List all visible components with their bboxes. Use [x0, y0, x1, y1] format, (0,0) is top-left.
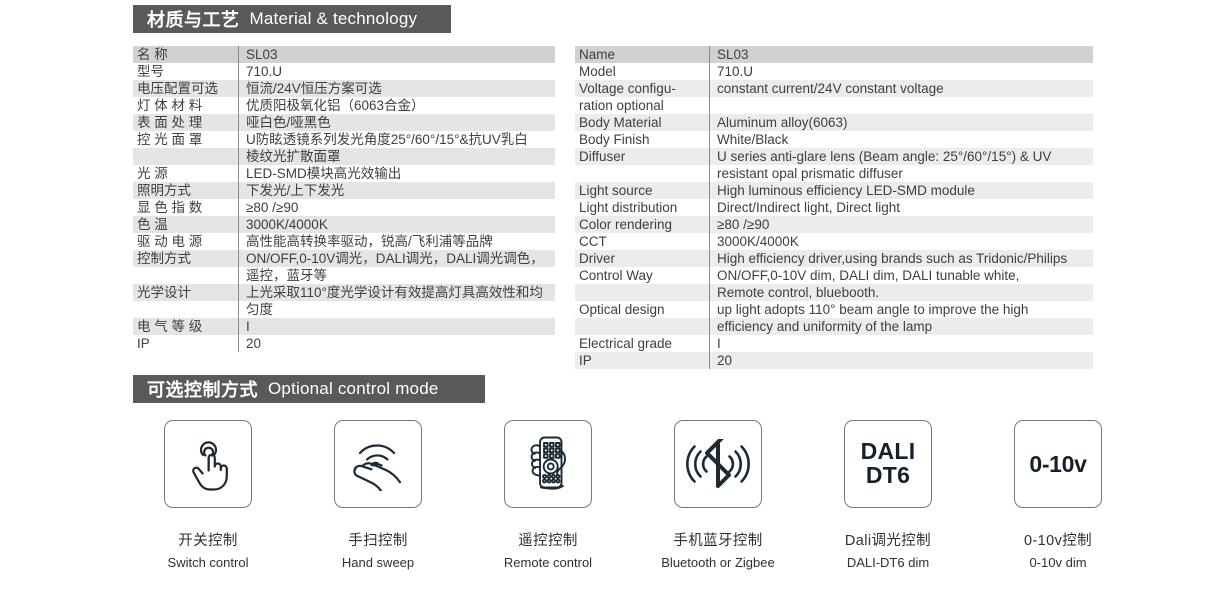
- spec-row-label: Optical design: [575, 301, 709, 335]
- control-mode-icon-box[interactable]: [164, 420, 252, 508]
- spec-value-line: High efficiency driver,using brands such…: [717, 250, 1093, 267]
- spec-row-label: 电压配置可选: [133, 80, 238, 97]
- spec-row: Control Way ON/OFF,0-10V dim, DALI dim, …: [575, 267, 1093, 301]
- dali-line-2: DT6: [861, 464, 916, 488]
- spec-label-line: 控 光 面 罩: [137, 131, 238, 148]
- spec-label-line: Voltage configu-: [579, 80, 709, 97]
- spec-row-label: 色 温: [133, 216, 238, 233]
- spec-label-line: 照明方式: [137, 182, 238, 199]
- spec-value-line: 哑白色/哑黑色: [246, 114, 555, 131]
- spec-row: 光 源LED-SMD模块高光效输出: [133, 165, 555, 182]
- spec-row-value: up light adopts 110° beam angle to impro…: [709, 301, 1093, 335]
- spec-label-line: 名 称: [137, 46, 238, 63]
- spec-label-line: [137, 148, 238, 165]
- spec-row-label: 表 面 处 理: [133, 114, 238, 131]
- spec-row-value: U series anti-glare lens (Beam angle: 25…: [709, 148, 1093, 182]
- spec-row: IP20: [133, 335, 555, 352]
- spec-row: 灯 体 材 料优质阳极氧化铝（6063合金）: [133, 97, 555, 114]
- spec-label-line: [579, 284, 709, 301]
- spec-row-value: High efficiency driver,using brands such…: [709, 250, 1093, 267]
- spec-row-value: 哑白色/哑黑色: [238, 114, 555, 131]
- spec-row: 控 光 面 罩 U防眩透镜系列发光角度25°/60°/15°&抗UV乳白棱纹光扩…: [133, 131, 555, 165]
- spec-row: 色 温3000K/4000K: [133, 216, 555, 233]
- spec-row-value: High luminous efficiency LED-SMD module: [709, 182, 1093, 199]
- spec-row-label: 型号: [133, 63, 238, 80]
- control-mode-label-en: Remote control: [504, 555, 592, 570]
- spec-label-line: Optical design: [579, 301, 709, 318]
- spec-row-value: 3000K/4000K: [238, 216, 555, 233]
- spec-value-line: 棱纹光扩散面罩: [246, 148, 555, 165]
- section-header-control-mode-en: Optional control mode: [268, 379, 439, 399]
- spec-row-value: White/Black: [709, 131, 1093, 148]
- spec-row: 电压配置可选恒流/24V恒压方案可选: [133, 80, 555, 97]
- spec-row: Diffuser U series anti-glare lens (Beam …: [575, 148, 1093, 182]
- spec-value-line: SL03: [246, 46, 555, 63]
- control-mode-icon-box[interactable]: DALIDT6: [844, 420, 932, 508]
- spec-row-value: ≥80 /≥90: [238, 199, 555, 216]
- spec-row-value: ≥80 /≥90: [709, 216, 1093, 233]
- spec-value-line: efficiency and uniformity of the lamp: [717, 318, 1093, 335]
- zero-to-ten-volt-text-icon: 0-10v: [1029, 451, 1086, 478]
- spec-row-value: 3000K/4000K: [709, 233, 1093, 250]
- spec-value-line: 下发光/上下发光: [246, 182, 555, 199]
- spec-value-line: LED-SMD模块高光效输出: [246, 165, 555, 182]
- control-mode-label-en: Hand sweep: [342, 555, 414, 570]
- section-header-material: 材质与工艺 Material & technology: [133, 5, 451, 33]
- spec-value-line: 3000K/4000K: [717, 233, 1093, 250]
- spec-label-line: 电压配置可选: [137, 80, 238, 97]
- dali-line-1: DALI: [861, 440, 916, 464]
- spec-label-line: 控制方式: [137, 250, 238, 267]
- spec-row-value: 710.U: [709, 63, 1093, 80]
- spec-value-line: 恒流/24V恒压方案可选: [246, 80, 555, 97]
- spec-value-line: ≥80 /≥90: [246, 199, 555, 216]
- spec-value-line: 710.U: [246, 63, 555, 80]
- section-header-control-mode: 可选控制方式 Optional control mode: [133, 375, 485, 403]
- spec-row-label: Light distribution: [575, 199, 709, 216]
- spec-label-line: Color rendering: [579, 216, 709, 233]
- spec-value-line: [717, 97, 1093, 114]
- spec-value-line: up light adopts 110° beam angle to impro…: [717, 301, 1093, 318]
- spec-row: Color rendering≥80 /≥90: [575, 216, 1093, 233]
- spec-row-value: constant current/24V constant voltage: [709, 80, 1093, 114]
- control-mode-label-cn: 0-10v控制: [1024, 529, 1092, 550]
- control-mode-label-en: DALI-DT6 dim: [847, 555, 929, 570]
- hand-press-icon: [180, 435, 236, 493]
- spec-value-line: 20: [246, 335, 555, 352]
- spec-row: 控制方式 ON/OFF,0-10V调光，DALI调光，DALI调光调色，遥控，蓝…: [133, 250, 555, 284]
- spec-value-line: Aluminum alloy(6063): [717, 114, 1093, 131]
- spec-label-line: Body Material: [579, 114, 709, 131]
- spec-row-label: Driver: [575, 250, 709, 267]
- spec-row-label: 控 光 面 罩: [133, 131, 238, 165]
- spec-value-line: Remote control, bluebooth.: [717, 284, 1093, 301]
- spec-row: Light distributionDirect/Indirect light,…: [575, 199, 1093, 216]
- spec-value-line: ON/OFF,0-10V dim, DALI dim, DALI tunable…: [717, 267, 1093, 284]
- spec-row-label: 名 称: [133, 46, 238, 63]
- spec-row-value: 下发光/上下发光: [238, 182, 555, 199]
- spec-row-value: I: [238, 318, 555, 335]
- spec-row-value: SL03: [709, 46, 1093, 63]
- spec-value-line: 3000K/4000K: [246, 216, 555, 233]
- spec-row-label: Control Way: [575, 267, 709, 301]
- spec-value-line: High luminous efficiency LED-SMD module: [717, 182, 1093, 199]
- control-mode-label-cn: 开关控制: [178, 529, 238, 550]
- spec-row-value: 高性能高转换率驱动，锐高/飞利浦等品牌: [238, 233, 555, 250]
- spec-label-line: 驱 动 电 源: [137, 233, 238, 250]
- spec-row-label: Name: [575, 46, 709, 63]
- spec-label-line: 电 气 等 级: [137, 318, 238, 335]
- spec-row: 型号710.U: [133, 63, 555, 80]
- spec-label-line: IP: [137, 335, 238, 352]
- spec-value-line: 优质阳极氧化铝（6063合金）: [246, 97, 555, 114]
- spec-row: IP20: [575, 352, 1093, 369]
- spec-value-line: Direct/Indirect light, Direct light: [717, 199, 1093, 216]
- spec-label-line: [137, 301, 238, 318]
- spec-label-line: 光学设计: [137, 284, 238, 301]
- spec-row: Body MaterialAluminum alloy(6063): [575, 114, 1093, 131]
- control-mode-label-en: 0-10v dim: [1029, 555, 1086, 570]
- control-mode-label-cn: Dali调光控制: [845, 529, 931, 550]
- spec-row-label: Light source: [575, 182, 709, 199]
- spec-label-line: Electrical grade: [579, 335, 709, 352]
- spec-label-line: Body Finish: [579, 131, 709, 148]
- control-mode-label-en: Switch control: [168, 555, 249, 570]
- spec-row: Optical design up light adopts 110° beam…: [575, 301, 1093, 335]
- spec-row: 驱 动 电 源高性能高转换率驱动，锐高/飞利浦等品牌: [133, 233, 555, 250]
- spec-row: 显 色 指 数≥80 /≥90: [133, 199, 555, 216]
- spec-label-line: Light source: [579, 182, 709, 199]
- spec-value-line: resistant opal prismatic diffuser: [717, 165, 1093, 182]
- spec-row: Voltage configu-ration optionalconstant …: [575, 80, 1093, 114]
- spec-row: 照明方式下发光/上下发光: [133, 182, 555, 199]
- spec-label-line: 显 色 指 数: [137, 199, 238, 216]
- control-mode-label-cn: 手扫控制: [348, 529, 408, 550]
- spec-row: CCT3000K/4000K: [575, 233, 1093, 250]
- spec-row-label: 驱 动 电 源: [133, 233, 238, 250]
- spec-row-label: Body Material: [575, 114, 709, 131]
- spec-label-line: IP: [579, 352, 709, 369]
- spec-label-line: Diffuser: [579, 148, 709, 165]
- spec-row: DriverHigh efficiency driver,using brand…: [575, 250, 1093, 267]
- spec-label-line: Driver: [579, 250, 709, 267]
- spec-label-line: Control Way: [579, 267, 709, 284]
- spec-value-line: 上光采取110°度光学设计有效提高灯具高效性和均: [246, 284, 555, 301]
- spec-value-line: U防眩透镜系列发光角度25°/60°/15°&抗UV乳白: [246, 131, 555, 148]
- spec-label-line: 光 源: [137, 165, 238, 182]
- spec-row-label: Color rendering: [575, 216, 709, 233]
- spec-row-value: Aluminum alloy(6063): [709, 114, 1093, 131]
- spec-value-line: 高性能高转换率驱动，锐高/飞利浦等品牌: [246, 233, 555, 250]
- control-mode-item[interactable]: 遥控控制Remote control: [473, 420, 623, 570]
- spec-label-line: [579, 318, 709, 335]
- control-mode-item[interactable]: DALIDT6Dali调光控制DALI-DT6 dim: [813, 420, 963, 570]
- spec-row-value: SL03: [238, 46, 555, 63]
- spec-row-label: 照明方式: [133, 182, 238, 199]
- spec-row-value: I: [709, 335, 1093, 352]
- spec-row-label: 控制方式: [133, 250, 238, 284]
- spec-label-line: 型号: [137, 63, 238, 80]
- spec-row-label: Electrical grade: [575, 335, 709, 352]
- spec-row: 电 气 等 级I: [133, 318, 555, 335]
- section-header-control-mode-cn: 可选控制方式: [147, 376, 258, 402]
- spec-label-line: 灯 体 材 料: [137, 97, 238, 114]
- spec-row-label: Model: [575, 63, 709, 80]
- control-mode-icon-box[interactable]: [674, 420, 762, 508]
- section-header-material-en: Material & technology: [250, 9, 418, 29]
- spec-label-line: [579, 165, 709, 182]
- spec-label-line: ration optional: [579, 97, 709, 114]
- dali-dt6-text-icon: DALIDT6: [861, 440, 916, 488]
- spec-row-label: 光学设计: [133, 284, 238, 318]
- bluetooth-wave-icon: [682, 439, 754, 489]
- control-mode-label-cn: 手机蓝牙控制: [673, 529, 762, 550]
- spec-value-line: ≥80 /≥90: [717, 216, 1093, 233]
- spec-row: NameSL03: [575, 46, 1093, 63]
- spec-row-value: 710.U: [238, 63, 555, 80]
- spec-label-line: CCT: [579, 233, 709, 250]
- remote-control-icon: [517, 433, 579, 495]
- section-header-material-cn: 材质与工艺: [147, 6, 240, 32]
- control-mode-item[interactable]: 手机蓝牙控制Bluetooth or Zigbee: [643, 420, 793, 570]
- spec-row-label: 显 色 指 数: [133, 199, 238, 216]
- spec-value-line: 710.U: [717, 63, 1093, 80]
- spec-value-line: SL03: [717, 46, 1093, 63]
- spec-value-line: 20: [717, 352, 1093, 369]
- spec-value-line: U series anti-glare lens (Beam angle: 25…: [717, 148, 1093, 165]
- control-mode-label-en: Bluetooth or Zigbee: [661, 555, 774, 570]
- spec-row-label: IP: [133, 335, 238, 352]
- spec-row-label: 灯 体 材 料: [133, 97, 238, 114]
- spec-row-value: 恒流/24V恒压方案可选: [238, 80, 555, 97]
- spec-row-label: Body Finish: [575, 131, 709, 148]
- spec-label-line: [137, 267, 238, 284]
- spec-row-value: LED-SMD模块高光效输出: [238, 165, 555, 182]
- control-mode-icon-box[interactable]: 0-10v: [1014, 420, 1102, 508]
- spec-row-value: ON/OFF,0-10V dim, DALI dim, DALI tunable…: [709, 267, 1093, 301]
- control-mode-item[interactable]: 0-10v0-10v控制0-10v dim: [983, 420, 1133, 570]
- spec-row: Model710.U: [575, 63, 1093, 80]
- control-mode-list: 开关控制Switch control 手扫控制Hand sweep: [133, 420, 1133, 570]
- spec-row-label: Voltage configu-ration optional: [575, 80, 709, 114]
- control-mode-item[interactable]: 手扫控制Hand sweep: [303, 420, 453, 570]
- spec-table-english: NameSL03Model710.UVoltage configu-ration…: [575, 46, 1093, 369]
- spec-row: Electrical gradeI: [575, 335, 1093, 352]
- spec-row-label: CCT: [575, 233, 709, 250]
- control-mode-item[interactable]: 开关控制Switch control: [133, 420, 283, 570]
- spec-value-line: 遥控，蓝牙等: [246, 267, 555, 284]
- control-mode-icon-box[interactable]: [334, 420, 422, 508]
- spec-row-value: 优质阳极氧化铝（6063合金）: [238, 97, 555, 114]
- spec-row-label: Diffuser: [575, 148, 709, 182]
- spec-row-label: 光 源: [133, 165, 238, 182]
- spec-label-line: Light distribution: [579, 199, 709, 216]
- spec-row: 光学设计 上光采取110°度光学设计有效提高灯具高效性和均匀度: [133, 284, 555, 318]
- spec-label-line: 色 温: [137, 216, 238, 233]
- control-mode-icon-box[interactable]: [504, 420, 592, 508]
- spec-label-line: 表 面 处 理: [137, 114, 238, 131]
- spec-value-line: I: [246, 318, 555, 335]
- spec-row-value: Direct/Indirect light, Direct light: [709, 199, 1093, 216]
- spec-value-line: 匀度: [246, 301, 555, 318]
- spec-row: Body FinishWhite/Black: [575, 131, 1093, 148]
- spec-label-line: Model: [579, 63, 709, 80]
- spec-value-line: ON/OFF,0-10V调光，DALI调光，DALI调光调色，: [246, 250, 555, 267]
- spec-row: 表 面 处 理哑白色/哑黑色: [133, 114, 555, 131]
- spec-table-chinese: 名 称SL03型号710.U电压配置可选恒流/24V恒压方案可选灯 体 材 料优…: [133, 46, 555, 352]
- spec-row-value: 20: [238, 335, 555, 352]
- spec-row: Light sourceHigh luminous efficiency LED…: [575, 182, 1093, 199]
- spec-label-line: Name: [579, 46, 709, 63]
- spec-row-value: ON/OFF,0-10V调光，DALI调光，DALI调光调色，遥控，蓝牙等: [238, 250, 555, 284]
- spec-row-label: IP: [575, 352, 709, 369]
- spec-value-line: I: [717, 335, 1093, 352]
- spec-row: 名 称SL03: [133, 46, 555, 63]
- spec-row-value: U防眩透镜系列发光角度25°/60°/15°&抗UV乳白棱纹光扩散面罩: [238, 131, 555, 165]
- spec-value-line: White/Black: [717, 131, 1093, 148]
- hand-sweep-icon: [347, 437, 409, 491]
- spec-row-label: 电 气 等 级: [133, 318, 238, 335]
- spec-row-value: 上光采取110°度光学设计有效提高灯具高效性和均匀度: [238, 284, 555, 318]
- control-mode-label-cn: 遥控控制: [518, 529, 578, 550]
- spec-value-line: constant current/24V constant voltage: [717, 80, 1093, 97]
- spec-row-value: 20: [709, 352, 1093, 369]
